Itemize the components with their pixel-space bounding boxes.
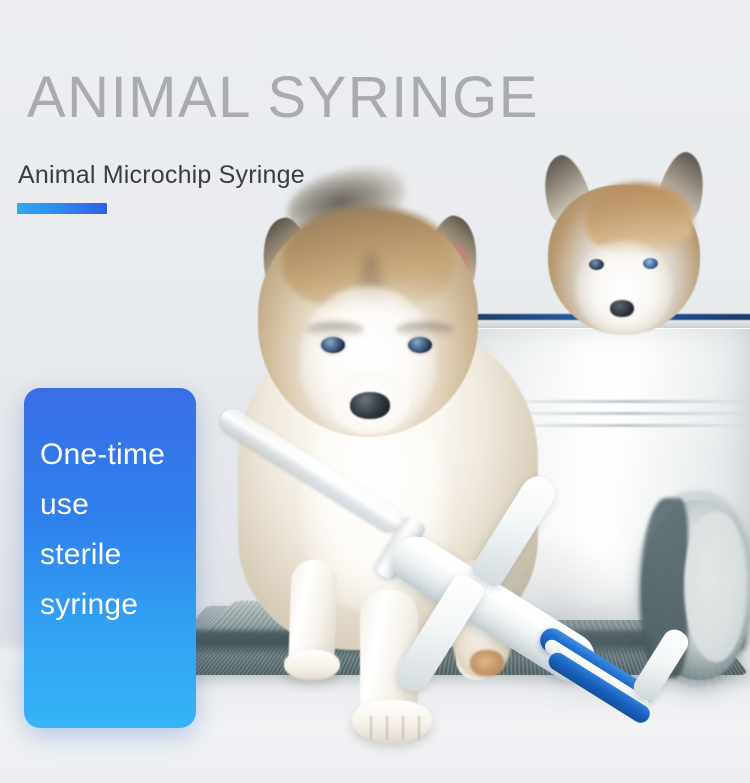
front-puppy-left-brow xyxy=(306,322,364,338)
syringe-needle-highlight xyxy=(228,408,397,517)
front-puppy-right-eye xyxy=(408,337,432,353)
front-puppy-right-brow xyxy=(396,322,454,338)
feature-line-4: syringe xyxy=(40,580,186,630)
syringe-needle xyxy=(215,404,407,537)
feature-line-3: sterile xyxy=(40,530,186,580)
feature-callout-card: One-time use sterile syringe xyxy=(24,388,196,728)
front-puppy-left-eye xyxy=(321,337,345,353)
microchip-syringe xyxy=(210,390,690,720)
product-banner: ANIMAL SYRINGE Animal Microchip Syringe … xyxy=(0,0,750,783)
accent-bar xyxy=(17,203,107,214)
page-title: ANIMAL SYRINGE xyxy=(27,68,539,129)
feature-line-2: use xyxy=(40,480,186,530)
feature-line-1: One-time xyxy=(40,430,186,480)
page-subtitle: Animal Microchip Syringe xyxy=(18,161,305,190)
back-puppy-nose xyxy=(610,300,634,317)
back-puppy-right-eye xyxy=(643,258,658,269)
back-puppy-face-mask xyxy=(575,240,673,336)
feature-callout-text: One-time use sterile syringe xyxy=(40,430,186,630)
back-puppy-left-eye xyxy=(589,259,604,270)
